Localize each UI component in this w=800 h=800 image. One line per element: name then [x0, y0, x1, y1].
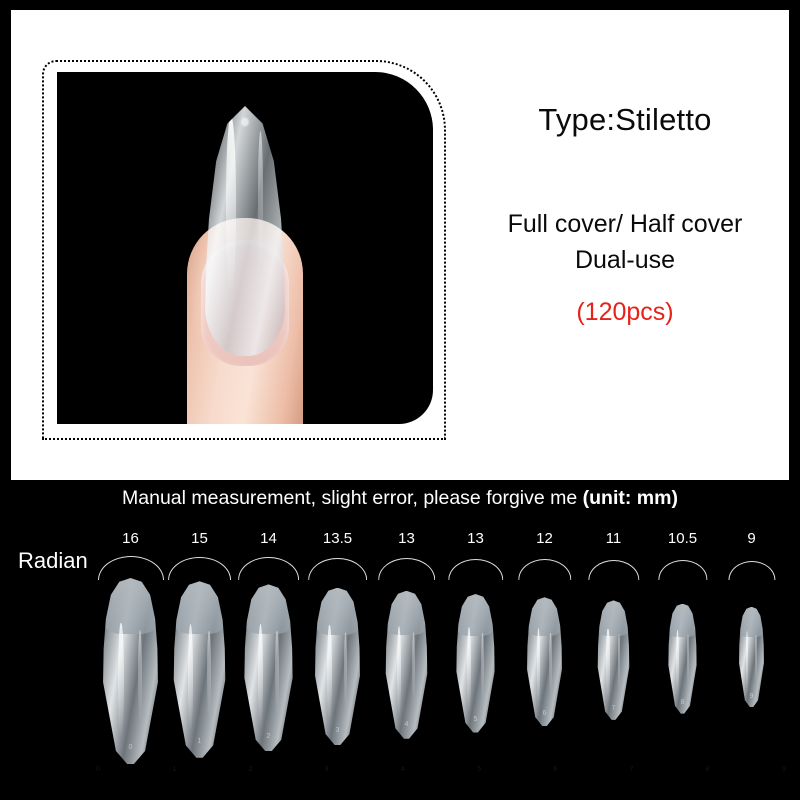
- nail-tip-size-stamp: 1: [173, 738, 226, 745]
- nail-tip-highlight-secondary: [344, 632, 347, 711]
- ruler-mark: 3: [325, 766, 329, 773]
- nail-tip-slot: 0: [96, 578, 165, 764]
- product-text-column: Type:Stiletto Full cover/ Half cover Dua…: [460, 104, 790, 327]
- radian-cell: 10.5: [648, 530, 717, 580]
- radian-cell: 13.5: [303, 530, 372, 580]
- nail-tip-size-stamp: 5: [456, 716, 495, 723]
- nail-tip-matte-cap: [456, 594, 495, 636]
- radian-value: 13.5: [303, 530, 372, 547]
- nail-tip-highlight: [467, 627, 471, 713]
- nail-tip-slot: 5: [441, 578, 510, 733]
- radian-cell: 16: [96, 530, 165, 580]
- nail-tip-highlight-secondary: [687, 634, 689, 689]
- nail-tip: 6: [527, 597, 563, 726]
- nail-tip: 1: [173, 581, 226, 758]
- radian-value: 10.5: [648, 530, 717, 547]
- radian-value: 12: [510, 530, 579, 547]
- nail-tip-highlight-secondary: [755, 635, 757, 685]
- ruler-mark: 6: [553, 766, 557, 773]
- radian-cell: 14: [234, 530, 303, 580]
- nail-tip-matte-cap: [527, 597, 563, 636]
- stiletto-nail-tip-closeup: [205, 106, 285, 356]
- nail-tip-highlight-secondary: [618, 634, 620, 694]
- radian-cell: 12: [510, 530, 579, 580]
- ruler-marks: 0123456789: [96, 766, 786, 773]
- nail-tip-slot: 6: [510, 578, 579, 726]
- nail-tip-size-stamp: 2: [244, 733, 293, 740]
- caption-unit: (unit: mm): [583, 487, 678, 509]
- nail-tip-slot: 4: [372, 578, 441, 739]
- radian-arc: [238, 557, 300, 580]
- nail-tip-size-stamp: 6: [527, 710, 563, 717]
- nail-tip-highlight-secondary: [481, 633, 484, 702]
- nail-tip-matte-cap: [103, 578, 159, 634]
- ruler-mark: 5: [477, 766, 481, 773]
- radian-value: 13: [441, 530, 510, 547]
- ruler-mark: 7: [630, 766, 634, 773]
- nail-tip-highlight: [537, 628, 541, 708]
- radian-value: 16: [96, 530, 165, 547]
- nail-tip-highlight: [258, 624, 263, 728]
- ruler-mark: 1: [172, 766, 176, 773]
- nail-tip-highlight: [397, 626, 401, 718]
- cover-type-line-1: Full cover/ Half cover: [460, 207, 790, 243]
- radian-cell: 15: [165, 530, 234, 580]
- ruler-mark: 0: [96, 766, 100, 773]
- product-type-label: Type:Stiletto: [460, 104, 790, 135]
- tip-apex-highlight: [242, 118, 249, 126]
- ruler-mark: 4: [401, 766, 405, 773]
- radian-arc: [308, 558, 368, 580]
- radian-value: 13: [372, 530, 441, 547]
- radian-arc: [588, 560, 639, 580]
- nail-tip: 5: [456, 594, 495, 733]
- product-image-root: Type:Stiletto Full cover/ Half cover Dua…: [0, 0, 800, 800]
- nail-tip-slot: 9: [717, 578, 786, 707]
- nail-tip-highlight: [676, 630, 679, 698]
- quantity-badge: (120pcs): [460, 298, 790, 327]
- nail-tip: 0: [103, 578, 159, 764]
- nail-tip: 7: [597, 600, 629, 720]
- nail-tip-slot: 3: [303, 578, 372, 745]
- nail-tip-matte-cap: [244, 584, 293, 634]
- nail-tip-matte-cap: [668, 604, 697, 637]
- nail-tip-slot: 1: [165, 578, 234, 758]
- caption-text: Manual measurement, slight error, please…: [122, 487, 583, 509]
- nail-tip-highlight: [606, 629, 609, 703]
- nail-tip-highlight: [327, 625, 332, 723]
- radian-cell: 13: [441, 530, 510, 580]
- nail-tips-row: 0123456789: [96, 578, 786, 774]
- nail-tip: 4: [385, 591, 427, 739]
- nail-tip-highlight-secondary: [138, 630, 142, 723]
- radian-row: 16151413.51313121110.59: [96, 530, 786, 580]
- radian-arc: [378, 558, 436, 580]
- radian-value: 9: [717, 530, 786, 547]
- nail-tip-size-stamp: 4: [385, 721, 427, 728]
- nail-tip-matte-cap: [173, 581, 226, 634]
- radian-value: 11: [579, 530, 648, 547]
- nail-tip-size-stamp: 3: [315, 727, 361, 734]
- nail-tip-size-stamp: 0: [103, 744, 159, 751]
- radian-cell: 9: [717, 530, 786, 580]
- radian-cell: 13: [372, 530, 441, 580]
- ruler-mark: 2: [248, 766, 252, 773]
- nail-tip-matte-cap: [385, 591, 427, 635]
- nail-tip-highlight: [746, 631, 749, 693]
- nail-tip-size-stamp: 7: [597, 705, 629, 712]
- ruler-mark: 9: [782, 766, 786, 773]
- nail-tip: 9: [739, 607, 764, 708]
- radian-cell: 11: [579, 530, 648, 580]
- nail-tip-highlight-secondary: [207, 631, 211, 719]
- radian-arc: [98, 556, 164, 580]
- nail-tip-highlight-secondary: [412, 632, 415, 706]
- nail-tip-matte-cap: [739, 607, 764, 637]
- radian-arc: [518, 559, 571, 580]
- nail-tip-highlight-secondary: [549, 633, 551, 698]
- nail-tip-highlight-secondary: [275, 631, 278, 715]
- radian-label: Radian: [18, 548, 88, 574]
- nail-tip: 8: [668, 604, 697, 714]
- nail-tip-slot: 2: [234, 578, 303, 751]
- radian-arc: [168, 557, 232, 580]
- nail-tip: 3: [315, 588, 361, 746]
- nail-tip-highlight: [188, 624, 193, 733]
- nail-tip-highlight: [118, 623, 124, 738]
- nail-tip: 2: [244, 584, 293, 751]
- cover-type-line-2: Dual-use: [460, 243, 790, 279]
- nail-tip-size-stamp: 8: [668, 699, 697, 706]
- radian-value: 14: [234, 530, 303, 547]
- hero-photo: [57, 72, 433, 424]
- nail-tip-slot: 7: [579, 578, 648, 720]
- measurement-caption: Manual measurement, slight error, please…: [11, 487, 789, 510]
- radian-arc: [448, 559, 504, 580]
- nail-tip-matte-cap: [315, 588, 361, 635]
- nail-tip-size-stamp: 9: [739, 693, 764, 700]
- ruler-mark: 8: [706, 766, 710, 773]
- radian-value: 15: [165, 530, 234, 547]
- nail-tip-slot: 8: [648, 578, 717, 714]
- nail-tip-matte-cap: [597, 600, 629, 636]
